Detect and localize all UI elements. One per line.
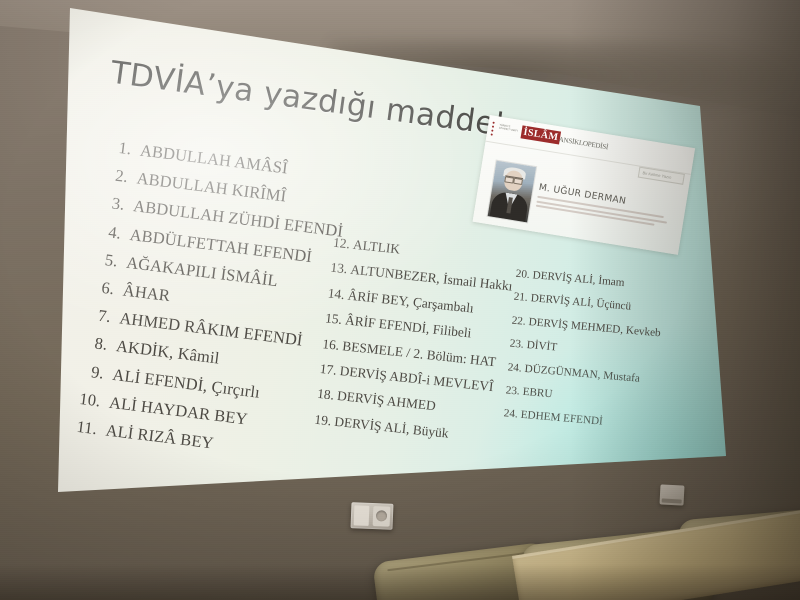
list-column-two: 12.ALTLIK 13.ALTUNBEZER, İsmail Hakkı 14… xyxy=(313,230,516,451)
item-number: 19. xyxy=(313,406,336,433)
floor-shadow xyxy=(0,564,800,600)
item-number: 16. xyxy=(321,331,344,358)
wall-corner-shadow xyxy=(570,0,800,600)
item-number: 17. xyxy=(319,356,342,383)
item-number: 2. xyxy=(100,160,129,191)
item-number: 13. xyxy=(329,255,352,282)
item-number: 4. xyxy=(93,216,122,247)
item-number: 11. xyxy=(69,412,98,443)
item-number: 21. xyxy=(513,286,532,311)
item-number: 15. xyxy=(324,305,347,332)
item-number: 7. xyxy=(83,300,112,331)
item-number: 5. xyxy=(90,244,119,275)
item-number: 22. xyxy=(511,309,530,334)
wall-socket xyxy=(351,502,394,530)
item-number: 23. xyxy=(509,333,528,358)
item-text: ÂHAR xyxy=(122,280,171,305)
item-number: 3. xyxy=(97,188,126,219)
item-text: DİVİT xyxy=(526,339,557,354)
item-number: 9. xyxy=(76,356,105,387)
list-column-one: 1.ABDULLAH AMÂSÎ 2.ABDULLAH KIRÎMÎ 3.ABD… xyxy=(69,132,351,470)
slide-title: TDVİA’ya yazdığı maddeler xyxy=(108,55,538,148)
item-number: 12. xyxy=(332,230,355,257)
item-number: 10. xyxy=(73,384,102,415)
item-number: 20. xyxy=(515,263,534,288)
light-switch[interactable] xyxy=(354,505,370,526)
item-text: ALTLIK xyxy=(352,237,400,257)
item-number: 1. xyxy=(104,132,133,163)
power-socket xyxy=(373,506,391,527)
item-number: 14. xyxy=(327,280,350,307)
item-text: EBRU xyxy=(522,386,553,401)
item-number: 8. xyxy=(80,328,109,359)
portrait-photo xyxy=(488,161,536,223)
photo-scene: TDVİA’ya yazdığı maddeler 1.ABDULLAH AMÂ… xyxy=(0,0,800,600)
item-number: 6. xyxy=(87,272,116,303)
item-number: 24. xyxy=(507,356,526,381)
item-number: 18. xyxy=(316,381,339,408)
item-number: 23. xyxy=(505,379,524,404)
item-number: 24. xyxy=(503,403,522,428)
